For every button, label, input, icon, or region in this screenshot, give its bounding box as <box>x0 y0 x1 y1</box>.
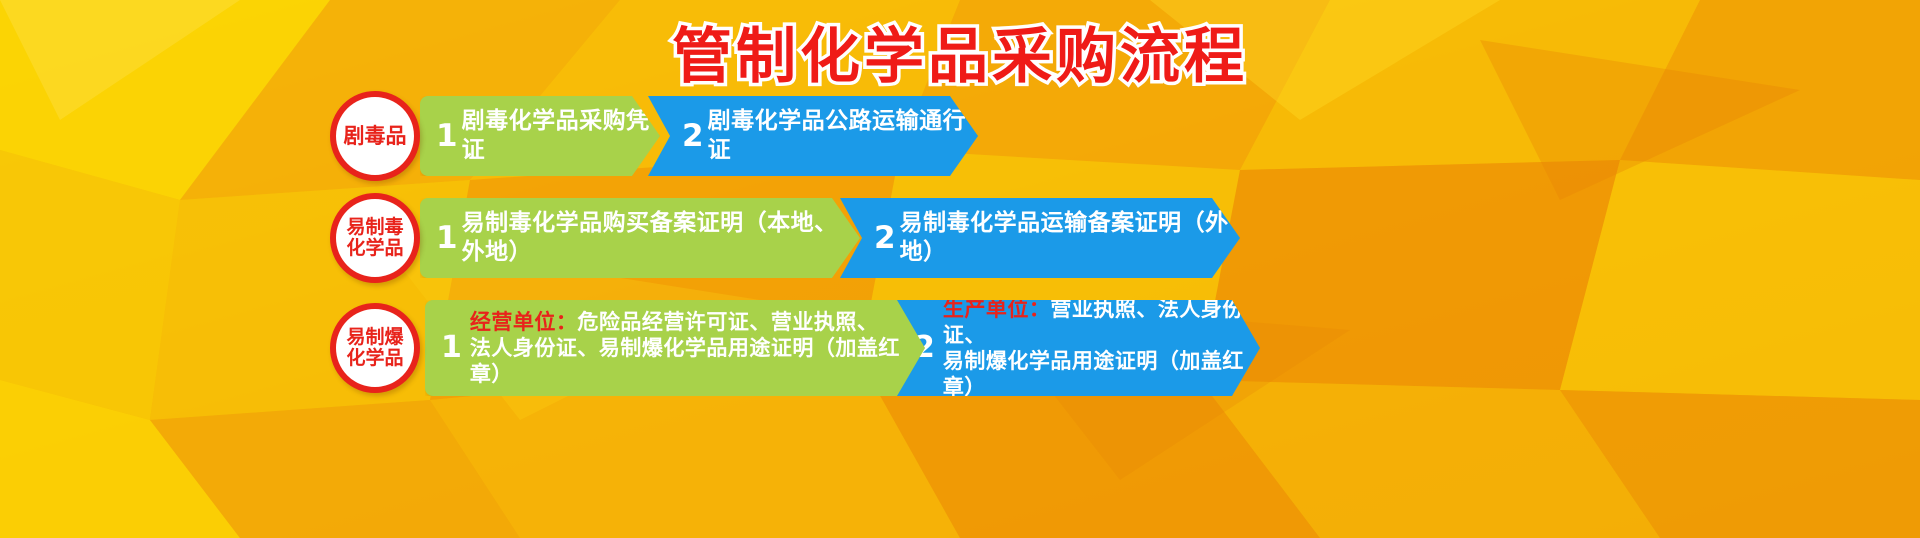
step-label-highlight: 生产单位： <box>943 297 1051 321</box>
step-chevron-r1-s1[interactable]: 1剧毒化学品采购凭证 <box>420 96 660 176</box>
step-chevron-r2-s2[interactable]: 2易制毒化学品运输备案证明（外地） <box>840 198 1240 278</box>
step-label: 剧毒化学品公路运输通行证 <box>708 107 978 165</box>
category-badge-label: 剧毒品 <box>344 125 407 147</box>
step-chevron-r1-s2[interactable]: 2剧毒化学品公路运输通行证 <box>648 96 978 176</box>
step-number: 1 <box>436 223 458 254</box>
category-badge-1: 剧毒品 <box>330 91 420 181</box>
step-number: 1 <box>436 121 458 152</box>
category-badge-2: 易制毒 化学品 <box>330 193 420 283</box>
page-title-fill: 管制化学品采购流程 <box>672 8 1248 95</box>
step-label: 易制毒化学品运输备案证明（外地） <box>900 209 1240 267</box>
step-number: 2 <box>874 223 896 254</box>
step-chevron-r3-s1[interactable]: 1经营单位：危险品经营许可证、营业执照、 法人身份证、易制爆化学品用途证明（加盖… <box>425 300 925 396</box>
page-title: 管制化学品采购流程 管制化学品采购流程 <box>0 8 1920 95</box>
step-label: 易制毒化学品购买备案证明（本地、外地） <box>462 209 860 267</box>
step-number: 1 <box>441 333 462 363</box>
flow-row-2: 易制毒 化学品1易制毒化学品购买备案证明（本地、外地）2易制毒化学品运输备案证明… <box>0 198 1920 278</box>
flow-rows: 剧毒品1剧毒化学品采购凭证2剧毒化学品公路运输通行证易制毒 化学品1易制毒化学品… <box>0 96 1920 418</box>
flow-row-3: 易制爆 化学品1经营单位：危险品经营许可证、营业执照、 法人身份证、易制爆化学品… <box>0 300 1920 396</box>
step-number: 2 <box>682 121 704 152</box>
category-badge-label: 易制爆 化学品 <box>346 327 403 370</box>
step-label: 剧毒化学品采购凭证 <box>462 107 660 165</box>
poster-root: 管制化学品采购流程 管制化学品采购流程 剧毒品1剧毒化学品采购凭证2剧毒化学品公… <box>0 0 1920 538</box>
step-chevron-r2-s1[interactable]: 1易制毒化学品购买备案证明（本地、外地） <box>420 198 860 278</box>
flow-row-1: 剧毒品1剧毒化学品采购凭证2剧毒化学品公路运输通行证 <box>0 96 1920 176</box>
category-badge-3: 易制爆 化学品 <box>330 303 420 393</box>
category-badge-label: 易制毒 化学品 <box>346 217 403 260</box>
step-label: 生产单位：营业执照、法人身份证、 易制爆化学品用途证明（加盖红章） <box>943 296 1260 401</box>
step-chevron-r3-s2[interactable]: 2生产单位：营业执照、法人身份证、 易制爆化学品用途证明（加盖红章） <box>880 300 1260 396</box>
step-label: 经营单位：危险品经营许可证、营业执照、 法人身份证、易制爆化学品用途证明（加盖红… <box>470 309 925 388</box>
step-label-highlight: 经营单位： <box>470 310 578 334</box>
